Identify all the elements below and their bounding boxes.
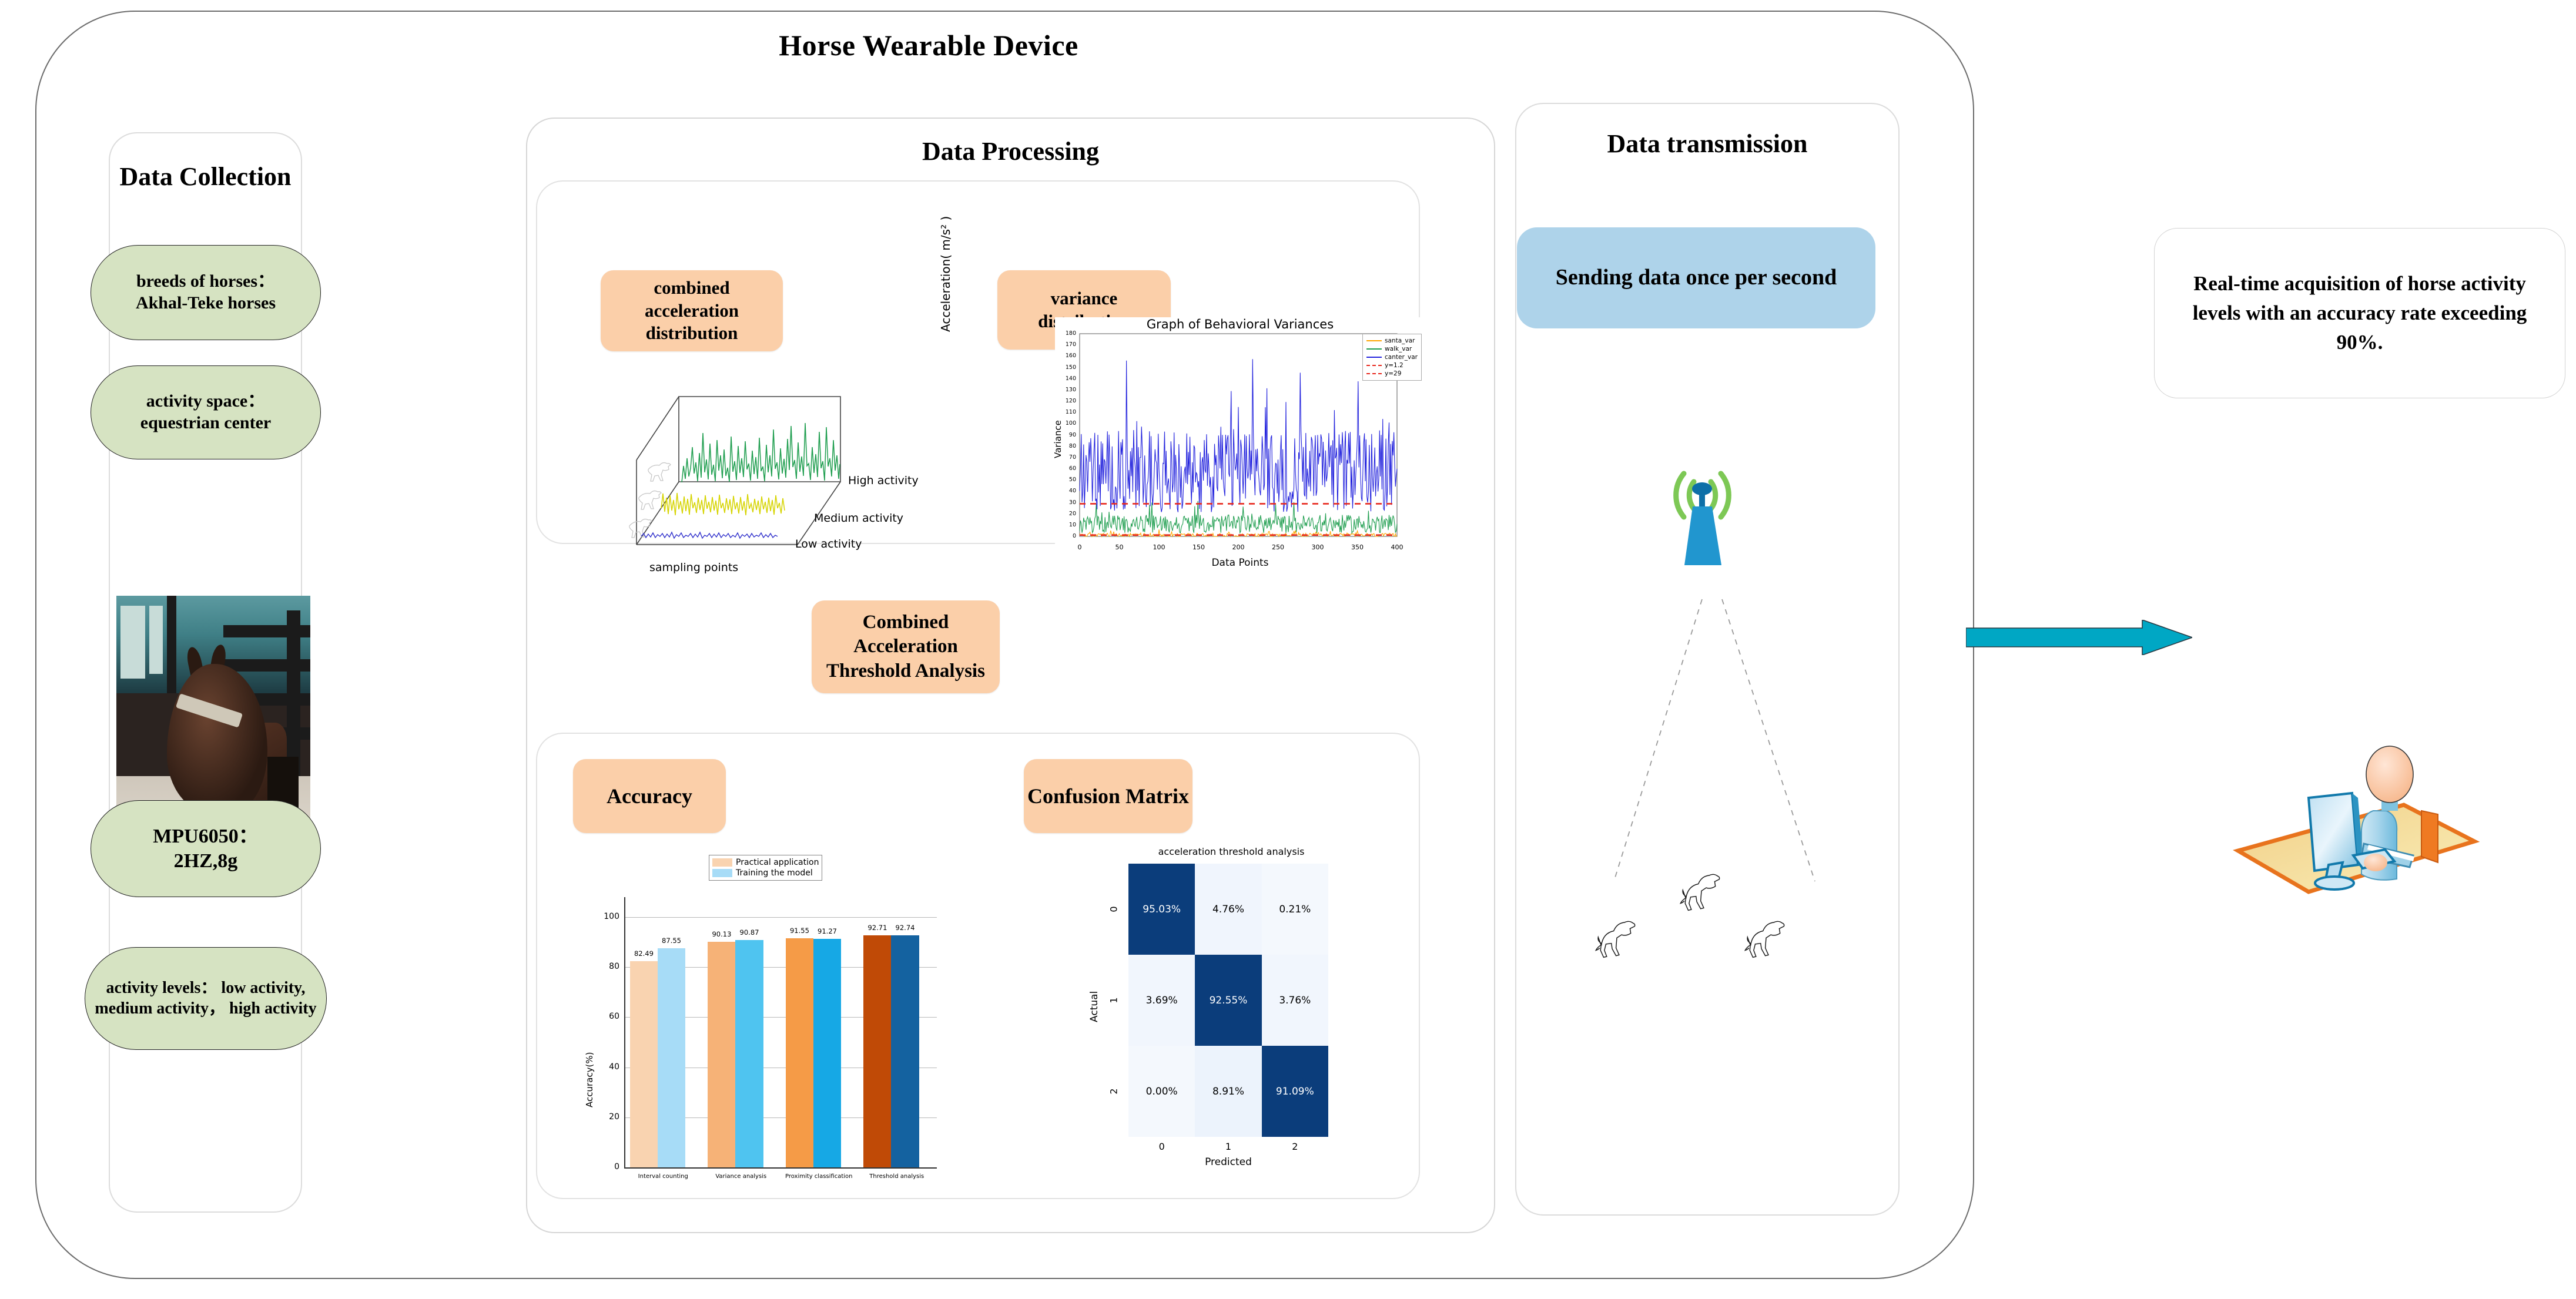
bar-chart-y-tick: 0 xyxy=(596,1162,619,1172)
monitor-base xyxy=(2315,877,2354,890)
panel-title-data-transmission: Data transmission xyxy=(1516,129,1898,159)
panel-data-collection: Data Collection breeds of horses： Akhal-… xyxy=(109,132,302,1213)
bar-value-label: 82.49 xyxy=(627,949,661,958)
bar-training-the-model-3 xyxy=(891,935,919,1167)
mini-horse-center xyxy=(1680,874,1719,910)
confusion-col-label-1: 1 xyxy=(1217,1141,1240,1152)
person-hand xyxy=(2364,854,2387,871)
bar-training-the-model-0 xyxy=(658,948,685,1167)
bar-legend-swatch xyxy=(712,858,732,867)
bar-legend-label: Training the model xyxy=(736,868,813,878)
bar-chart-y-tick: 60 xyxy=(596,1012,619,1021)
pill-mpu6050: MPU6050： 2HZ,8g xyxy=(91,800,321,897)
bar-chart-gridline xyxy=(625,917,937,918)
photo-window-2 xyxy=(149,606,163,674)
header-combined-acceleration-threshold-analysis: Combined Acceleration Threshold Analysis xyxy=(812,600,1000,693)
antenna-tower-body xyxy=(1684,506,1721,565)
antenna-mast xyxy=(1699,491,1705,506)
panel-result-statement: Real-time acquisition of horse activity … xyxy=(2154,228,2565,398)
confusion-cell-1-1: 92.55% xyxy=(1195,955,1261,1046)
chart-confusion-matrix: acceleration threshold analysis Actual P… xyxy=(1052,846,1381,1207)
pill-activity-levels: activity levels： low activity, medium ac… xyxy=(85,947,327,1050)
bar-chart-y-tick: 100 xyxy=(596,912,619,921)
legend-label: walk_var xyxy=(1385,345,1412,353)
horse-glyph-decor xyxy=(629,463,671,538)
legend-row-walk_var[interactable]: walk_var xyxy=(1366,345,1418,353)
bar-category-label: Interval counting xyxy=(624,1173,702,1180)
confusion-row-label-0: 0 xyxy=(1108,906,1120,912)
bar-chart-y-tick: 40 xyxy=(596,1062,619,1072)
bar-practical-application-1 xyxy=(708,942,735,1167)
beam-dashed-lines xyxy=(1614,599,1815,881)
bar-training-the-model-1 xyxy=(735,940,763,1167)
legend-label: y=29 xyxy=(1385,370,1401,377)
bar-chart-y-tick: 80 xyxy=(596,962,619,971)
legend-row-y=1.2[interactable]: y=1.2 xyxy=(1366,361,1418,370)
bar-practical-application-2 xyxy=(786,938,813,1167)
chart-combined-acceleration-3d: Acceleration( m/s² ) High activity Mediu… xyxy=(626,338,955,579)
confusion-row-label-2: 2 xyxy=(1108,1088,1120,1094)
page-title: Horse Wearable Device xyxy=(664,28,1193,62)
confusion-cell-2-2: 91.09% xyxy=(1262,1046,1328,1137)
bar-legend-swatch xyxy=(712,869,732,877)
plot3d-y-axis-label: Acceleration( m/s² ) xyxy=(939,216,953,332)
confusion-cell-0-0: 95.03% xyxy=(1128,864,1195,955)
bar-legend-row-0[interactable]: Practical application xyxy=(712,857,819,868)
bar-legend-row-1[interactable]: Training the model xyxy=(712,868,819,878)
bar-legend-label: Practical application xyxy=(736,858,819,867)
chart-graph-of-behavioral-variances: Graph of Behavioral Variances Variance D… xyxy=(1055,317,1425,576)
confusion-col-label-0: 0 xyxy=(1150,1141,1174,1152)
confusion-matrix-title: acceleration threshold analysis xyxy=(1093,846,1369,857)
mini-horse-right xyxy=(1745,921,1784,957)
bar-practical-application-0 xyxy=(630,961,658,1167)
photo-post xyxy=(287,610,300,776)
pill-sending-data-once-per-second: Sending data once per second xyxy=(1517,227,1875,328)
legend-swatch xyxy=(1366,373,1382,374)
bar-chart-y-tick: 20 xyxy=(596,1112,619,1122)
plot3d-svg xyxy=(626,338,955,579)
monitor-screen xyxy=(2309,793,2358,871)
legend-row-santa_var[interactable]: santa_var xyxy=(1366,337,1418,345)
trace-low-activity xyxy=(641,532,778,538)
bar-category-label: Proximity classification xyxy=(780,1173,858,1180)
confusion-row-label-1: 1 xyxy=(1108,997,1120,1003)
bar-value-label: 91.27 xyxy=(810,927,845,935)
bar-chart-plot-area: 82.4987.5590.1390.8791.5591.2792.7192.74 xyxy=(624,897,937,1169)
plot3d-track-label-medium: Medium activity xyxy=(814,512,903,525)
header-confusion-matrix: Confusion Matrix xyxy=(1024,759,1192,833)
header-accuracy: Accuracy xyxy=(573,759,726,833)
confusion-matrix-x-axis-label: Predicted xyxy=(1128,1156,1328,1168)
legend-swatch xyxy=(1366,348,1382,350)
bar-chart-legend: Practical applicationTraining the model xyxy=(709,855,822,881)
flow-arrow-icon xyxy=(1966,620,2192,655)
panel-title-data-processing: Data Processing xyxy=(527,136,1494,166)
chair-back xyxy=(2421,811,2438,862)
legend-label: y=1.2 xyxy=(1385,362,1403,369)
legend-swatch xyxy=(1366,365,1382,366)
bar-chart-y-axis-label: Accuracy(%) xyxy=(584,1052,595,1107)
plot3d-track-label-high: High activity xyxy=(848,474,919,487)
transmission-beam xyxy=(1581,588,1840,964)
trace-medium-activity xyxy=(661,493,785,515)
result-text: Real-time acquisition of horse activity … xyxy=(2170,269,2550,357)
confusion-matrix-y-axis-label: Actual xyxy=(1088,991,1100,1022)
confusion-cell-2-1: 8.91% xyxy=(1195,1046,1261,1137)
confusion-col-label-2: 2 xyxy=(1283,1141,1307,1152)
bar-value-label: 90.87 xyxy=(732,928,766,937)
bar-value-label: 92.74 xyxy=(887,924,922,932)
confusion-cell-0-2: 0.21% xyxy=(1262,864,1328,955)
confusion-cell-0-1: 4.76% xyxy=(1195,864,1261,955)
legend-label: santa_var xyxy=(1385,337,1415,344)
pill-activity-space: activity space： equestrian center xyxy=(91,365,321,459)
bar-category-label: Threshold analysis xyxy=(858,1173,936,1180)
pill-breeds-of-horses: breeds of horses： Akhal-Teke horses xyxy=(91,245,321,340)
legend-swatch xyxy=(1366,357,1382,358)
confusion-cell-1-2: 3.76% xyxy=(1262,955,1328,1046)
confusion-matrix-grid: 95.03%4.76%0.21%3.69%92.55%3.76%0.00%8.9… xyxy=(1128,864,1328,1137)
trace-high-activity xyxy=(682,423,840,482)
bar-practical-application-3 xyxy=(863,935,891,1167)
bar-value-label: 87.55 xyxy=(654,937,689,945)
confusion-cell-2-0: 0.00% xyxy=(1128,1046,1195,1137)
photo-window-1 xyxy=(120,606,146,679)
plot3d-x-axis-label: sampling points xyxy=(649,561,738,574)
panel-title-data-collection: Data Collection xyxy=(110,162,301,192)
legend-row-canter_var[interactable]: canter_var xyxy=(1366,353,1418,361)
person-head xyxy=(2366,746,2413,803)
person-at-computer-icon xyxy=(2227,705,2486,940)
plot3d-track-label-low: Low activity xyxy=(795,538,862,551)
antenna-tower-icon xyxy=(1628,464,1787,605)
legend-row-y=29[interactable]: y=29 xyxy=(1366,370,1418,378)
chart-accuracy-comparison: Practical applicationTraining the model … xyxy=(594,855,958,1207)
bar-training-the-model-2 xyxy=(813,939,841,1167)
confusion-cell-1-0: 3.69% xyxy=(1128,955,1195,1046)
legend-label: canter_var xyxy=(1385,354,1418,361)
bar-category-label: Variance analysis xyxy=(702,1173,780,1180)
variance-chart-legend: santa_varwalk_varcanter_vary=1.2y=29 xyxy=(1362,334,1422,381)
photo-rail-vertical xyxy=(167,596,177,693)
mini-horse-left xyxy=(1596,921,1634,957)
legend-swatch xyxy=(1366,340,1382,341)
